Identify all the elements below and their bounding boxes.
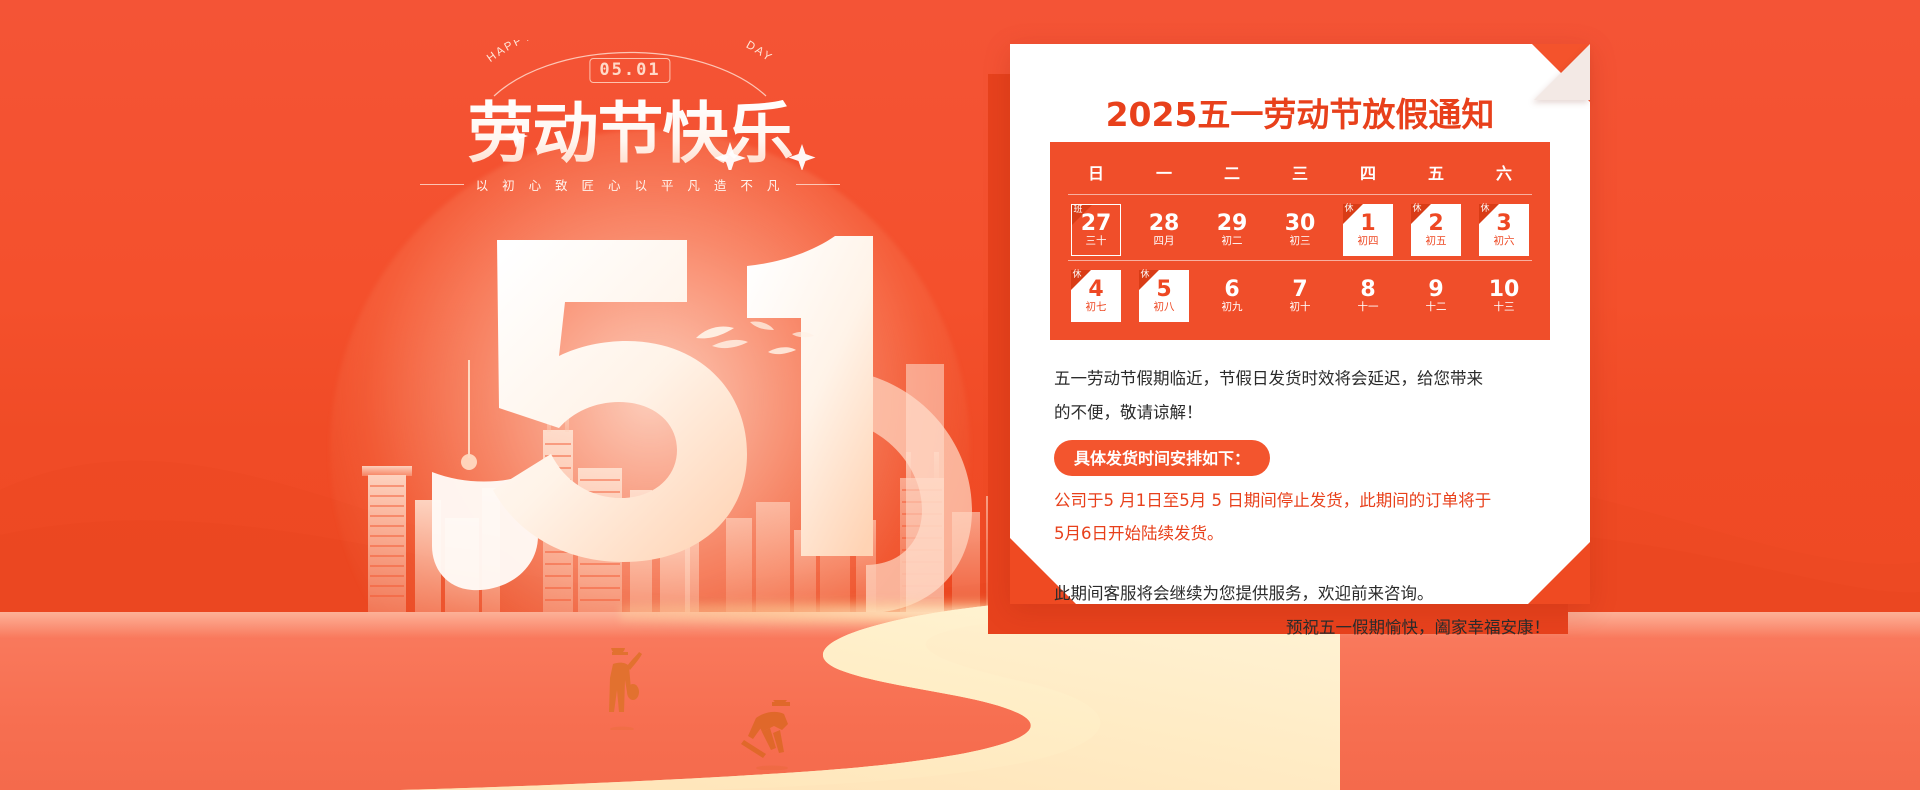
- calendar-day-7: 7初十: [1266, 270, 1334, 322]
- calendar-day-lunar: 初八: [1154, 302, 1175, 313]
- calendar-day-number: 6: [1224, 279, 1239, 301]
- calendar-day-3: 休3初六: [1470, 204, 1538, 256]
- calendar-day-lunar: 初九: [1222, 302, 1243, 313]
- calendar-week-row: 班27三十28四月29初二30初三休1初四休2初五休3初六: [1050, 195, 1550, 260]
- calendar-day-lunar: 初十: [1290, 302, 1311, 313]
- calendar-day-number: 29: [1217, 213, 1248, 235]
- calendar-day-lunar: 初六: [1494, 236, 1515, 247]
- calendar-day-inner: 6初九: [1207, 270, 1257, 322]
- calendar-day-inner: 班27三十: [1071, 204, 1121, 256]
- red-line-1: 公司于5 月1日至5月 5 日期间停止发货，此期间的订单将于: [1054, 484, 1556, 518]
- calendar-day-lunar: 三十: [1086, 236, 1107, 247]
- service-line: 此期间客服将会继续为您提供服务，欢迎前来咨询。: [1054, 577, 1556, 611]
- calendar-day-lunar: 四月: [1154, 236, 1175, 247]
- calendar: 日 一 二 三 四 五 六 班27三十28四月29初二30初三休1初四休2初五休…: [1050, 142, 1550, 340]
- red-line-2: 5月6日开始陆续发货。: [1054, 517, 1556, 551]
- calendar-day-lunar: 十一: [1358, 302, 1379, 313]
- weekday-5: 五: [1402, 160, 1470, 184]
- calendar-day-10: 10十三: [1470, 270, 1538, 322]
- calendar-day-9: 9十二: [1402, 270, 1470, 322]
- intro-line-2: 的不便，敬请谅解！: [1054, 396, 1556, 430]
- schedule-pill: 具体发货时间安排如下：: [1054, 440, 1270, 476]
- calendar-day-inner: 休3初六: [1479, 204, 1529, 256]
- calendar-day-lunar: 十二: [1426, 302, 1447, 313]
- weekday-4: 四: [1334, 160, 1402, 184]
- calendar-day-2: 休2初五: [1402, 204, 1470, 256]
- calendar-day-inner: 休5初八: [1139, 270, 1189, 322]
- weekday-2: 二: [1198, 160, 1266, 184]
- calendar-day-number: 10: [1489, 279, 1520, 301]
- weekday-3: 三: [1266, 160, 1334, 184]
- calendar-day-inner: 9十二: [1411, 270, 1461, 322]
- calendar-day-inner: 休1初四: [1343, 204, 1393, 256]
- calendar-day-27: 班27三十: [1062, 204, 1130, 256]
- main-title: 劳动节快乐: [420, 94, 840, 168]
- calendar-weekday-header: 日 一 二 三 四 五 六: [1050, 154, 1550, 194]
- big-number-51: [455, 232, 875, 562]
- calendar-day-inner: 休2初五: [1411, 204, 1461, 256]
- calendar-day-mark: 休: [1345, 205, 1354, 214]
- calendar-day-inner: 30初三: [1275, 204, 1325, 256]
- date-badge: 05.01: [589, 58, 670, 83]
- calendar-day-lunar: 初七: [1086, 302, 1107, 313]
- calendar-day-lunar: 初二: [1222, 236, 1243, 247]
- calendar-day-lunar: 初五: [1426, 236, 1447, 247]
- slogan-row: 以 初 心 致 匠 心 以 平 凡 造 不 凡: [420, 175, 840, 194]
- calendar-day-mark: 班: [1074, 206, 1083, 215]
- weekday-1: 一: [1130, 160, 1198, 184]
- calendar-day-lunar: 初三: [1290, 236, 1311, 247]
- calendar-week-row: 休4初七休5初八6初九7初十8十一9十二10十三: [1050, 261, 1550, 326]
- weekday-0: 日: [1062, 160, 1130, 184]
- poster-stage: HAPPY INTERNATIONAL WORKERS ' DAY 05.01 …: [0, 0, 1920, 790]
- calendar-day-4: 休4初七: [1062, 270, 1130, 322]
- calendar-day-lunar: 十三: [1494, 302, 1515, 313]
- hero-title-block: HAPPY INTERNATIONAL WORKERS ' DAY 05.01 …: [420, 40, 840, 190]
- intro-line-1: 五一劳动节假期临近，节假日发货时效将会延迟，给您带来: [1054, 362, 1556, 396]
- calendar-day-mark: 休: [1413, 205, 1422, 214]
- arc-text-wrap: HAPPY INTERNATIONAL WORKERS ' DAY 05.01: [420, 40, 840, 98]
- person-working-silhouette: [738, 700, 798, 770]
- calendar-day-inner: 休4初七: [1071, 270, 1121, 322]
- card-title: 2025五一劳动节放假通知: [1010, 88, 1590, 136]
- calendar-day-5: 休5初八: [1130, 270, 1198, 322]
- calendar-day-8: 8十一: [1334, 270, 1402, 322]
- calendar-day-28: 28四月: [1130, 204, 1198, 256]
- calendar-day-6: 6初九: [1198, 270, 1266, 322]
- calendar-day-number: 9: [1428, 279, 1443, 301]
- closing-line: 预祝五一假期愉快，阖家幸福安康！: [1054, 611, 1556, 645]
- calendar-day-30: 30初三: [1266, 204, 1334, 256]
- notice-body: 五一劳动节假期临近，节假日发货时效将会延迟，给您带来 的不便，敬请谅解！ 具体发…: [1054, 362, 1556, 645]
- birds-flock: [690, 320, 820, 380]
- calendar-day-inner: 7初十: [1275, 270, 1325, 322]
- calendar-day-number: 7: [1292, 279, 1307, 301]
- calendar-day-mark: 休: [1141, 271, 1150, 280]
- slogan-divider-right: [796, 184, 840, 185]
- slogan-text: 以 初 心 致 匠 心 以 平 凡 造 不 凡: [476, 175, 785, 194]
- notice-card: 2025五一劳动节放假通知 日 一 二 三 四 五 六 班27三十28四月29初…: [1010, 44, 1590, 604]
- calendar-day-inner: 29初二: [1207, 204, 1257, 256]
- calendar-day-number: 30: [1285, 213, 1316, 235]
- calendar-day-inner: 28四月: [1139, 204, 1189, 256]
- person-standing-silhouette: [604, 648, 642, 730]
- calendar-day-inner: 8十一: [1343, 270, 1393, 322]
- calendar-day-number: 8: [1360, 279, 1375, 301]
- calendar-day-number: 28: [1149, 213, 1180, 235]
- body-spacer: [1054, 551, 1556, 577]
- calendar-day-lunar: 初四: [1358, 236, 1379, 247]
- calendar-day-mark: 休: [1481, 205, 1490, 214]
- calendar-day-inner: 10十三: [1479, 270, 1529, 322]
- calendar-day-29: 29初二: [1198, 204, 1266, 256]
- slogan-divider-left: [420, 184, 464, 185]
- weekday-6: 六: [1470, 160, 1538, 184]
- calendar-day-mark: 休: [1073, 271, 1082, 280]
- calendar-day-1: 休1初四: [1334, 204, 1402, 256]
